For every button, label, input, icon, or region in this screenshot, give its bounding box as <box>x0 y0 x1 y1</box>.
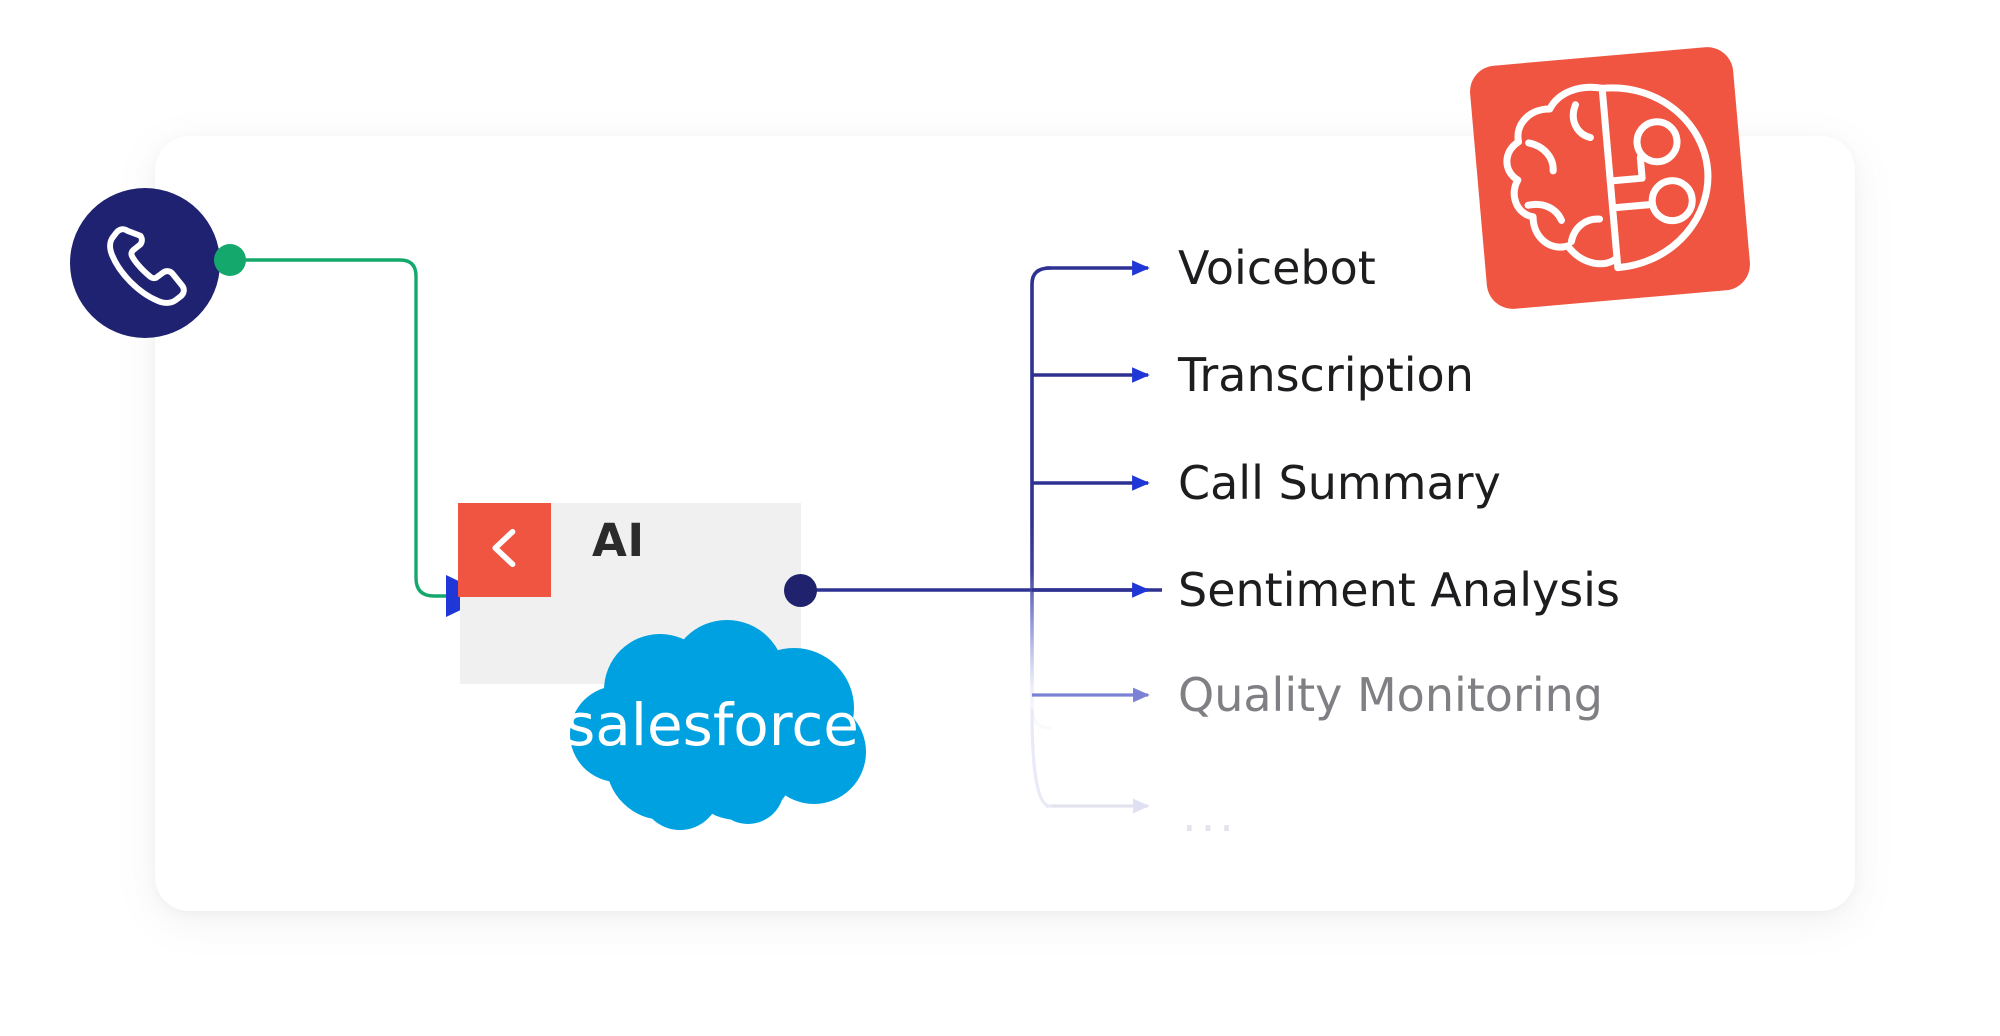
ai-label: AI <box>592 518 645 563</box>
processor-output-dot <box>784 574 817 607</box>
output-label-sentiment-analysis[interactable]: Sentiment Analysis <box>1178 567 1620 613</box>
chevron-left-icon <box>479 522 531 578</box>
salesforce-cloud-logo[interactable]: salesforce <box>552 612 872 832</box>
input-connector-dot <box>214 244 246 276</box>
output-label-voicebot[interactable]: Voicebot <box>1178 245 1376 291</box>
salesforce-wordmark: salesforce <box>565 691 859 759</box>
output-label-transcription[interactable]: Transcription <box>1178 352 1474 398</box>
caller-phone-node[interactable] <box>70 188 220 338</box>
output-label-call-summary[interactable]: Call Summary <box>1178 460 1501 506</box>
phone-handset-icon <box>99 217 191 309</box>
output-label-more[interactable]: ... <box>1182 792 1238 838</box>
ai-badge[interactable] <box>458 503 551 597</box>
output-label-quality-monitoring[interactable]: Quality Monitoring <box>1178 672 1603 718</box>
diagram-canvas: AI salesforce <box>0 0 2000 1036</box>
ai-brain-tile <box>1459 36 1761 319</box>
